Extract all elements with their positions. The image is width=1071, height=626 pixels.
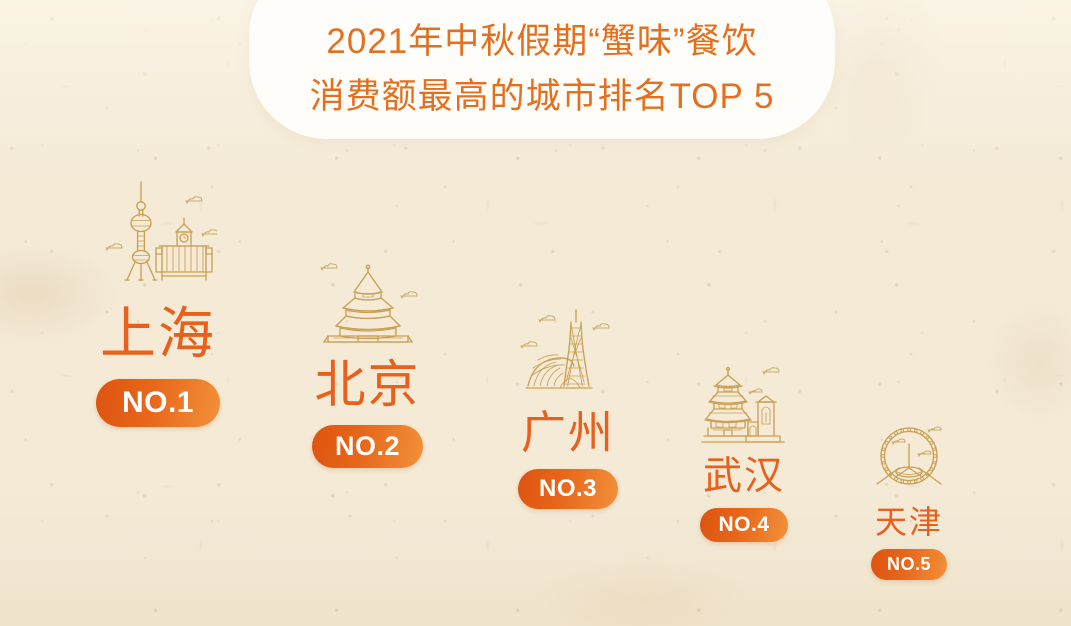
city-name: 广州 [521, 410, 615, 455]
title-card: 2021年中秋假期“蟹味”餐饮 消费额最高的城市排名TOP 5 [249, 0, 835, 139]
rank-badge: NO.3 [518, 469, 618, 509]
rank-badge: NO.5 [871, 549, 947, 580]
city-name: 武汉 [703, 457, 785, 496]
city-rank-item-tianjin: 天津 NO.5 [869, 422, 949, 580]
tianjin-eye-ferris-wheel-icon [869, 422, 949, 498]
city-name: 上海 [100, 306, 216, 362]
page-title: 2021年中秋假期“蟹味”餐饮 消费额最高的城市排名TOP 5 [249, 14, 835, 125]
rank-badge: NO.4 [700, 508, 787, 542]
temple-of-heaven-icon [314, 258, 422, 348]
infographic-canvas: 2021年中秋假期“蟹味”餐饮 消费额最高的城市排名TOP 5 [0, 0, 1071, 626]
title-line-2: 消费额最高的城市排名TOP 5 [249, 69, 835, 124]
city-name: 北京 [315, 359, 421, 410]
yellow-crane-tower-icon [700, 366, 788, 448]
rank-badge: NO.2 [312, 425, 423, 468]
oriental-pearl-tower-icon [99, 176, 217, 294]
city-rank-item-beijing: 北京 NO.2 [312, 258, 423, 468]
city-rank-item-guangzhou: 广州 NO.3 [518, 308, 618, 509]
city-rank-item-wuhan: 武汉 NO.4 [700, 366, 788, 542]
city-rank-item-shanghai: 上海 NO.1 [96, 176, 220, 427]
city-name: 天津 [875, 506, 943, 538]
canton-tower-icon [520, 308, 616, 400]
title-line-1: 2021年中秋假期“蟹味”餐饮 [249, 14, 835, 69]
rank-badge: NO.1 [96, 379, 220, 427]
